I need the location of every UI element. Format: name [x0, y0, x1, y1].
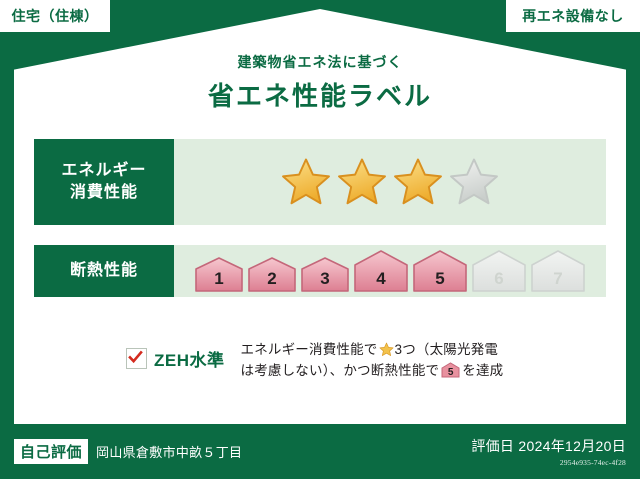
evaluation-id: 2954e935-74ec-4f28 [471, 458, 626, 467]
insulation-rating-body: 1234567 [174, 245, 606, 297]
title-block: 建築物省エネ法に基づく 省エネ性能ラベル [0, 52, 640, 113]
footer-left: 自己評価 岡山県倉敷市中畝５丁目 [14, 439, 471, 464]
zeh-description-line1: エネルギー消費性能で3つ（太陽光発電 [241, 340, 504, 361]
zeh-mark: ZEH水準 [126, 346, 225, 371]
house-grade-3: 3 [300, 256, 350, 293]
house-icon [353, 249, 409, 293]
house-grade-2: 2 [247, 256, 297, 293]
house-icon [530, 249, 586, 293]
energy-rating-body [174, 139, 606, 225]
house-grade-6: 6 [471, 249, 527, 293]
house-icon [247, 256, 297, 293]
renewable-energy-badge: 再エネ設備なし [506, 0, 640, 32]
zeh-checkbox[interactable] [126, 348, 147, 369]
zeh-description-line2: は考慮しない）、かつ断熱性能で5を達成 [241, 361, 504, 382]
energy-performance-row: エネルギー 消費性能 [34, 139, 606, 225]
self-evaluation-badge: 自己評価 [14, 439, 88, 464]
footer-right: 評価日 2024年12月20日 2954e935-74ec-4f28 [471, 436, 626, 467]
evaluation-date: 評価日 2024年12月20日 [471, 436, 626, 456]
zeh-description: エネルギー消費性能で3つ（太陽光発電 は考慮しない）、かつ断熱性能で5を達成 [241, 340, 504, 382]
star-icon-filled [280, 156, 332, 208]
house-grade-scale: 1234567 [194, 249, 586, 293]
page-title: 省エネ性能ラベル [0, 76, 640, 113]
zeh-desc-text-c: は考慮しない）、かつ断熱性能で [241, 363, 440, 378]
inline-house-number: 5 [441, 368, 460, 378]
subtitle: 建築物省エネ法に基づく [0, 52, 640, 72]
energy-performance-label: エネルギー 消費性能 [34, 139, 174, 225]
check-icon [128, 350, 143, 365]
star-icon-filled [392, 156, 444, 208]
renewable-energy-label: 再エネ設備なし [522, 6, 624, 26]
house-grade-1: 1 [194, 256, 244, 293]
house-icon [471, 249, 527, 293]
house-grade-4: 4 [353, 249, 409, 293]
insulation-label-line1: 断熱性能 [70, 260, 138, 282]
housing-type-badge: 住宅（住棟） [0, 0, 110, 32]
inline-house-badge: 5 [441, 362, 460, 378]
insulation-performance-label: 断熱性能 [34, 245, 174, 297]
house-grade-7: 7 [530, 249, 586, 293]
house-icon [194, 256, 244, 293]
insulation-performance-row: 断熱性能 1234567 [34, 245, 606, 297]
star-icon [379, 342, 394, 357]
zeh-desc-text-a: エネルギー消費性能で [241, 342, 378, 357]
zeh-desc-text-b: 3つ（太陽光発電 [395, 342, 499, 357]
house-icon [300, 256, 350, 293]
star-rating [280, 156, 500, 208]
property-address: 岡山県倉敷市中畝５丁目 [96, 442, 242, 461]
footer-bar: 自己評価 岡山県倉敷市中畝５丁目 評価日 2024年12月20日 2954e93… [0, 424, 640, 479]
housing-type-label: 住宅（住棟） [12, 6, 99, 26]
star-icon-filled [336, 156, 388, 208]
star-icon-empty [448, 156, 500, 208]
energy-label-line1: エネルギー [61, 160, 146, 182]
energy-label-line2: 消費性能 [70, 182, 138, 204]
zeh-label: ZEH水準 [154, 346, 225, 371]
zeh-desc-text-d: を達成 [462, 363, 503, 378]
house-grade-5: 5 [412, 249, 468, 293]
house-icon [412, 249, 468, 293]
zeh-standard-block: ZEH水準 エネルギー消費性能で3つ（太陽光発電 は考慮しない）、かつ断熱性能で… [34, 340, 606, 382]
